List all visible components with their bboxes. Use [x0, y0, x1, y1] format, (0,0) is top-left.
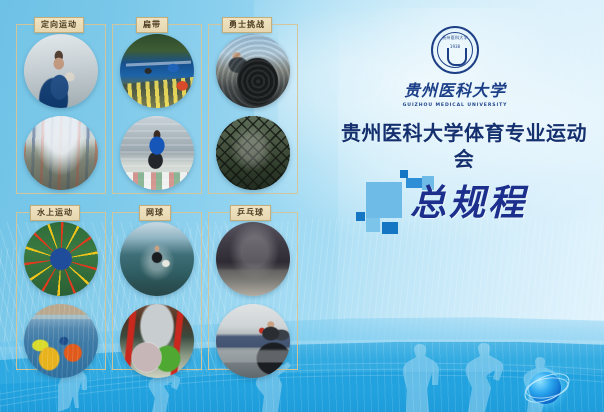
slackline-outdoor-photo[interactable]	[120, 34, 194, 108]
warrior-obstacle-net-photo[interactable]	[216, 116, 290, 190]
subtitle-heading: 总规程	[410, 182, 527, 226]
category-label-orienteering: 定向运动	[34, 17, 84, 33]
university-name-en: GUIZHOU MEDICAL UNIVERSITY	[397, 103, 513, 108]
category-label-warrior: 勇士挑战	[222, 17, 272, 33]
deco-square-mid-left	[366, 218, 380, 232]
deco-square-large	[366, 182, 402, 218]
deco-square-tiny-top	[400, 170, 408, 178]
category-label-water-sports: 水上运动	[30, 205, 80, 221]
orienteering-runner-photo[interactable]	[24, 34, 98, 108]
seal-year: 1938	[450, 44, 460, 49]
deco-square-bottom	[382, 222, 398, 234]
deco-square-tiny-left	[356, 212, 365, 221]
tennis-player-photo[interactable]	[120, 222, 194, 296]
warrior-tire-flip-photo[interactable]	[216, 34, 290, 108]
table-tennis-hall-photo[interactable]	[216, 304, 290, 378]
photo-grid: 定向运动 扁带 勇士挑战 水上运动 网球 乒乓球	[14, 16, 304, 368]
university-seal-icon: 贵州医科大学 1938	[431, 26, 479, 74]
tennis-balls-photo[interactable]	[120, 304, 194, 378]
page-title: 贵州医科大学体育专业运动会	[335, 120, 593, 172]
poster-canvas: 定向运动 扁带 勇士挑战 水上运动 网球 乒乓球	[0, 0, 604, 412]
category-label-tennis: 网球	[139, 205, 171, 221]
slackline-indoor-photo[interactable]	[120, 116, 194, 190]
orienteering-mass-start-photo[interactable]	[24, 116, 98, 190]
university-name-cn: 贵州医科大学	[397, 77, 513, 101]
table-tennis-match-photo[interactable]	[216, 222, 290, 296]
seal-top-text: 贵州医科大学	[442, 35, 468, 41]
university-logo-block: 贵州医科大学 1938 贵州医科大学 GUIZHOU MEDICAL UNIVE…	[397, 26, 513, 108]
category-label-table-tennis: 乒乓球	[230, 205, 271, 221]
category-label-slackline: 扁带	[136, 17, 168, 33]
globe-icon	[525, 368, 565, 408]
dragon-boat-photo[interactable]	[24, 222, 98, 296]
kayak-race-photo[interactable]	[24, 304, 98, 378]
